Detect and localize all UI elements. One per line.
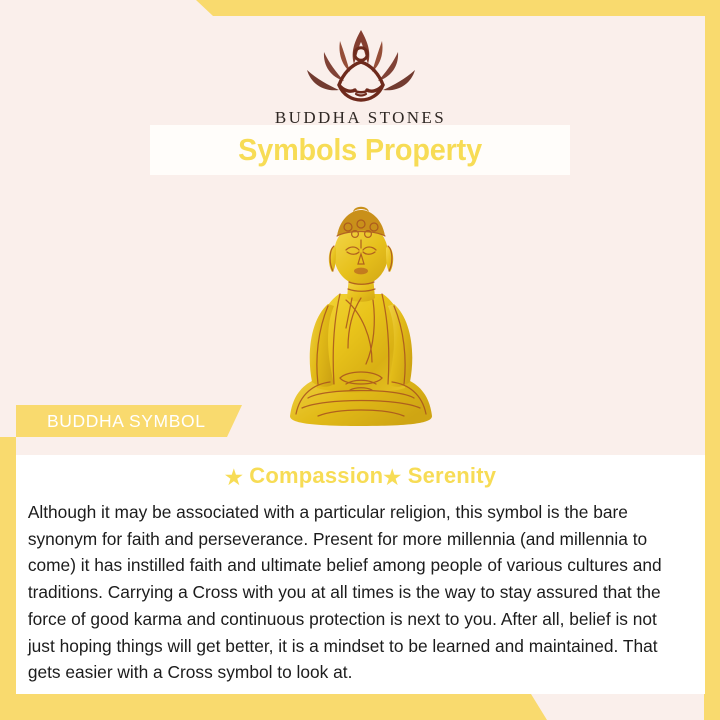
buddha-symbol-ribbon: BUDDHA SYMBOL	[16, 405, 242, 437]
content-panel: ★ Compassion★ Serenity Although it may b…	[16, 455, 705, 694]
lotus-meditation-icon	[297, 22, 425, 106]
seated-golden-buddha-illustration	[268, 202, 454, 430]
star-icon-right: ★	[383, 467, 401, 489]
star-icon-left: ★	[225, 467, 243, 489]
headline-word-compassion: Compassion	[249, 463, 383, 488]
content-body-text: Although it may be associated with a par…	[16, 490, 695, 686]
ribbon-label: BUDDHA SYMBOL	[47, 411, 206, 432]
decorative-left-strip	[0, 437, 16, 720]
decorative-bottom-band	[0, 694, 720, 720]
decorative-top-band	[0, 0, 720, 16]
brand-logo: BUDDHA STONES	[16, 16, 705, 128]
page-title: Symbols Property	[238, 132, 482, 168]
content-headline: ★ Compassion★ Serenity	[16, 455, 705, 490]
decorative-right-strip	[704, 0, 720, 720]
headline-word-serenity: Serenity	[408, 463, 496, 488]
buddha-illustration	[16, 180, 705, 430]
upper-section: BUDDHA STONES Symbols Property	[16, 16, 705, 455]
infographic-poster: BUDDHA STONES Symbols Property	[0, 0, 720, 720]
title-banner: Symbols Property	[150, 125, 570, 175]
